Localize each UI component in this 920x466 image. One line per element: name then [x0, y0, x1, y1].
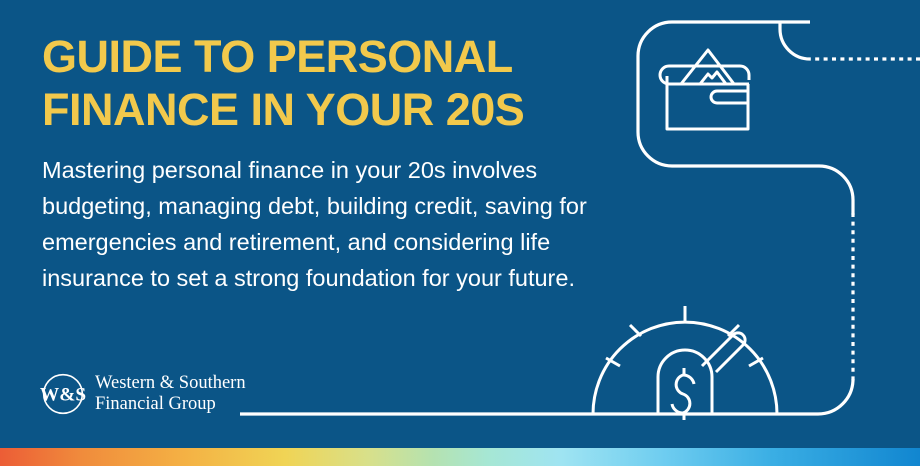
bottom-horizontal-rule	[240, 379, 853, 414]
promotional-banner: Guide to Personal Finance in Your 20s Ma…	[0, 0, 920, 466]
logo-monogram-text: W&S	[40, 384, 86, 405]
gradient-accent-bar	[0, 448, 920, 466]
wallet-icon	[660, 50, 749, 129]
connector-curve-top-right	[780, 22, 810, 59]
speedometer-dollar-icon	[593, 306, 777, 420]
western-southern-logo-icon: W&S	[40, 371, 86, 417]
brand-line-1: Western & Southern	[95, 373, 246, 394]
page-title: Guide to Personal Finance in Your 20s	[42, 30, 642, 136]
brand-wordmark: Western & Southern Financial Group	[95, 373, 246, 415]
connector-path-wallet	[638, 22, 853, 215]
brand-logo-lockup: W&S Western & Southern Financial Group	[40, 371, 246, 417]
brand-line-2: Financial Group	[95, 394, 246, 415]
body-paragraph: Mastering personal finance in your 20s i…	[42, 152, 630, 296]
